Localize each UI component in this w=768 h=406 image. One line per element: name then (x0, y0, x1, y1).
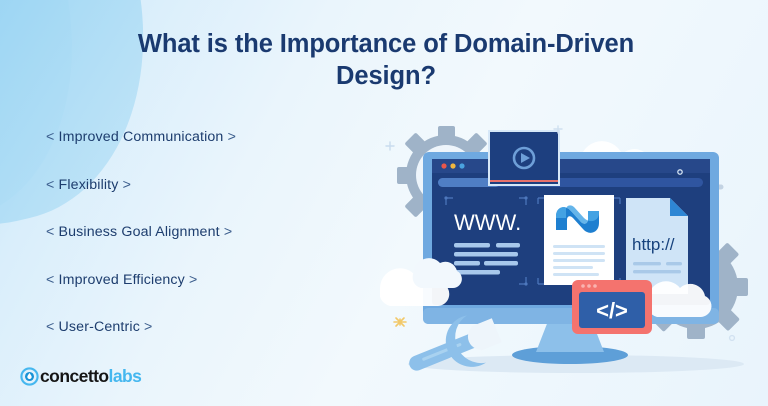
browser-dot-minimize[interactable] (450, 163, 455, 168)
list-item-label: User-Centric (59, 319, 140, 335)
bracket-close-icon: > (123, 177, 131, 193)
list-item: < Improved Communication > (46, 128, 356, 146)
list-item: < Flexibility > (46, 176, 356, 194)
logo-text-primary: concetto (40, 366, 109, 386)
bracket-open-icon: < (46, 224, 54, 240)
bracket-close-icon: > (144, 319, 152, 335)
www-label: WWW. (454, 210, 521, 235)
list-item-label: Flexibility (59, 177, 119, 193)
code-badge-label: </> (596, 298, 628, 323)
browser-dot-close[interactable] (441, 163, 446, 168)
document-card-http: http:// (626, 198, 688, 294)
document-card-swoosh (538, 195, 620, 285)
page-title: What is the Importance of Domain-Driven … (96, 28, 676, 92)
bracket-close-icon: > (224, 224, 232, 240)
code-badge[interactable]: </> (572, 280, 652, 334)
list-item: < Business Goal Alignment > (46, 223, 356, 241)
monitor: WWW. (423, 130, 719, 364)
bracket-open-icon: < (46, 177, 54, 193)
sparkle-top (386, 142, 394, 150)
promo-banner: What is the Importance of Domain-Driven … (0, 0, 768, 406)
bracket-close-icon: > (189, 272, 197, 288)
feature-list: < Improved Communication > < Flexibility… (46, 128, 356, 366)
list-item: < Improved Efficiency > (46, 271, 356, 289)
list-item: < User-Centric > (46, 318, 356, 336)
bracket-open-icon: < (46, 272, 54, 288)
circle-c-icon (20, 367, 39, 386)
list-item-label: Improved Efficiency (59, 272, 185, 288)
bracket-open-icon: < (46, 129, 54, 145)
logo-text-secondary: labs (109, 366, 142, 386)
logo-wordmark: concettolabs (40, 367, 141, 386)
sparkle-left (394, 318, 406, 326)
browser-chrome (432, 159, 710, 187)
dot-decoration (730, 336, 735, 341)
list-item-label: Improved Communication (59, 129, 224, 145)
video-player-card[interactable] (488, 130, 560, 186)
web-development-monitor-illustration: WWW. (380, 112, 768, 392)
brand-logo[interactable]: concettolabs (20, 364, 141, 388)
http-label: http:// (632, 235, 675, 254)
browser-dot-maximize[interactable] (459, 163, 464, 168)
bracket-close-icon: > (228, 129, 236, 145)
list-item-label: Business Goal Alignment (59, 224, 220, 240)
bracket-open-icon: < (46, 319, 54, 335)
